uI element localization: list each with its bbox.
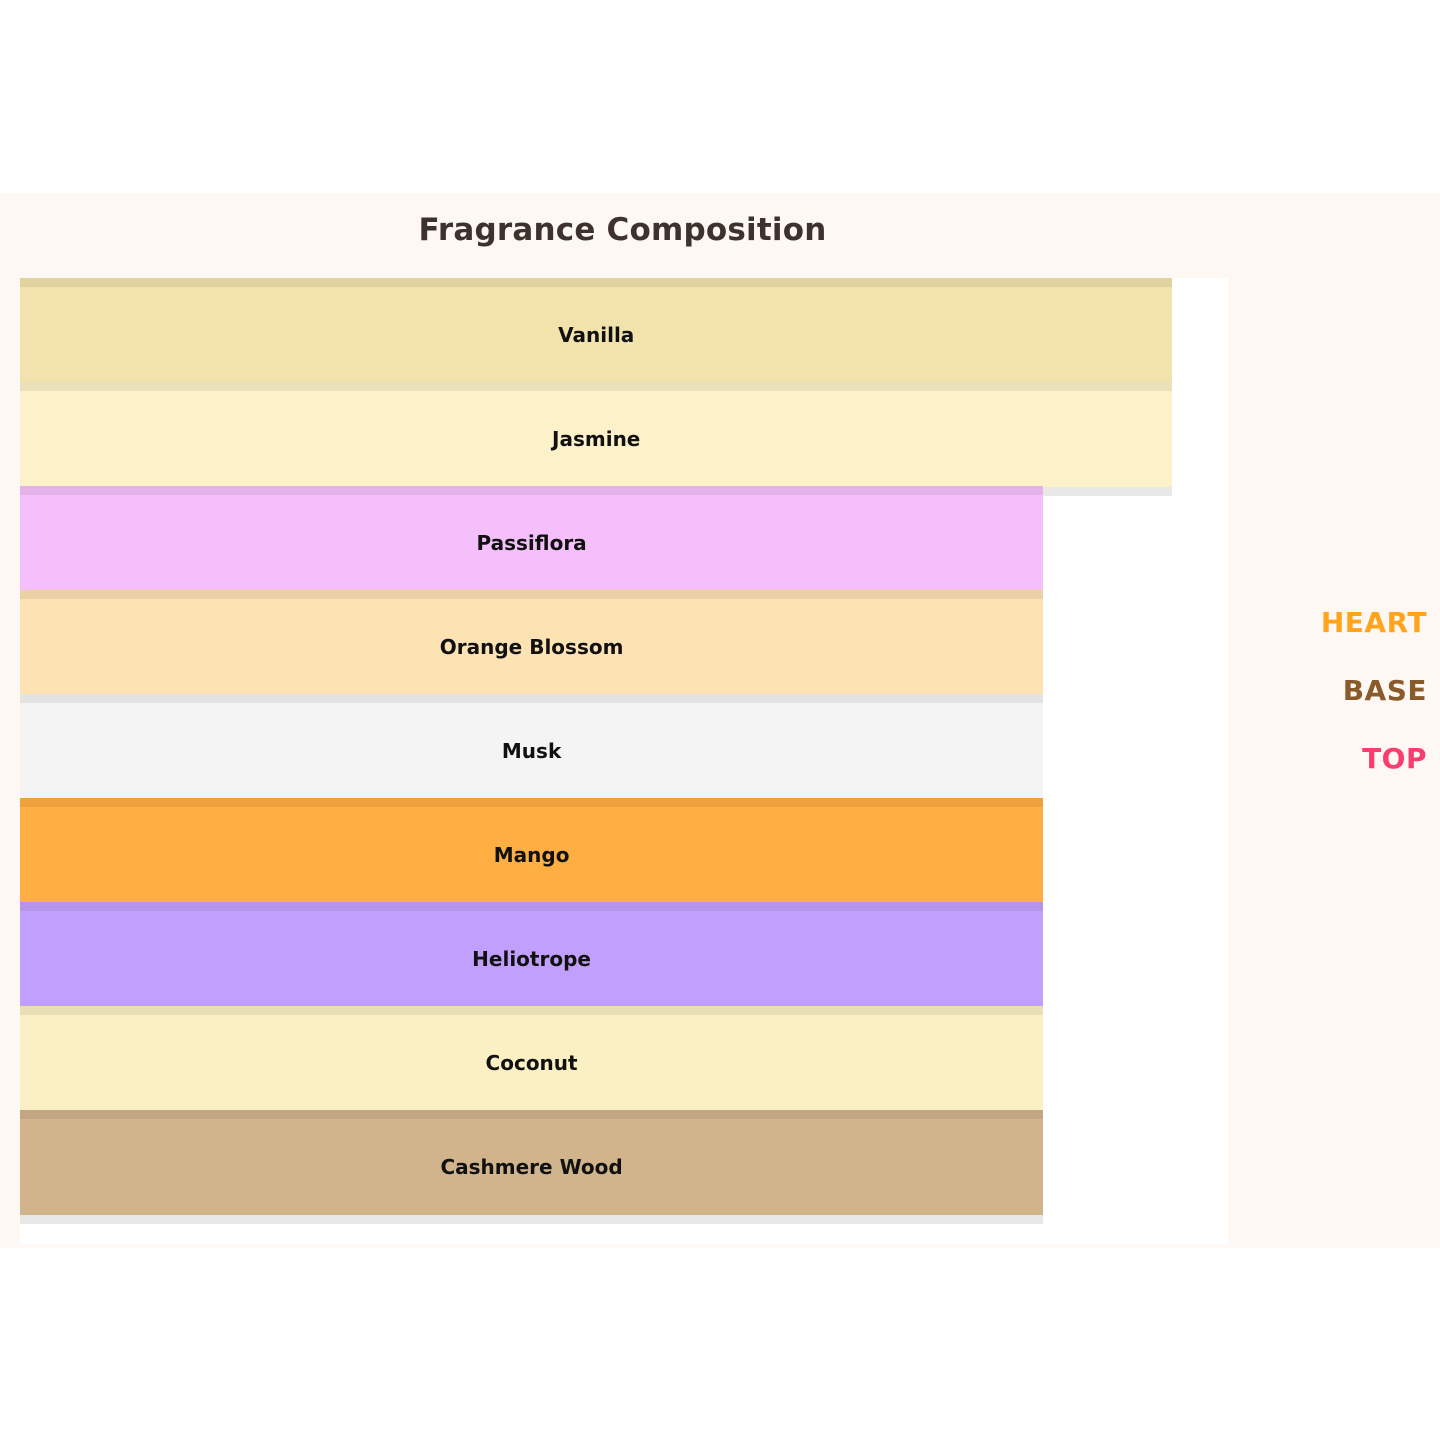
legend-item-heart[interactable]: HEART bbox=[1321, 589, 1427, 657]
bar-shadow-strip bbox=[20, 486, 1043, 495]
bar-row[interactable]: Heliotrope bbox=[20, 902, 1228, 1016]
plot-area: VanillaJasminePassifloraOrange BlossomMu… bbox=[20, 278, 1228, 1244]
bar-fill[interactable] bbox=[20, 495, 1043, 591]
bar-fill[interactable] bbox=[20, 807, 1043, 903]
bar-shadow-strip bbox=[20, 694, 1043, 703]
bar-shadow-strip bbox=[20, 278, 1172, 287]
legend-item-top[interactable]: TOP bbox=[1321, 725, 1427, 793]
bar-row[interactable]: Orange Blossom bbox=[20, 590, 1228, 704]
bar-fill[interactable] bbox=[20, 391, 1172, 487]
bar-shadow-strip bbox=[20, 902, 1043, 911]
bar-row[interactable]: Cashmere Wood bbox=[20, 1110, 1228, 1224]
bar-fill[interactable] bbox=[20, 1119, 1043, 1215]
bar-fill[interactable] bbox=[20, 287, 1172, 383]
bar-row[interactable]: Coconut bbox=[20, 1006, 1228, 1120]
bar-fill[interactable] bbox=[20, 1015, 1043, 1111]
bar-fill[interactable] bbox=[20, 599, 1043, 695]
bar-row[interactable]: Musk bbox=[20, 694, 1228, 808]
bar-row[interactable]: Passiflora bbox=[20, 486, 1228, 600]
bar-shadow-strip bbox=[20, 382, 1172, 391]
bar-fill[interactable] bbox=[20, 703, 1043, 799]
bar-row[interactable]: Jasmine bbox=[20, 382, 1228, 496]
bar-fill[interactable] bbox=[20, 911, 1043, 1007]
bar-row[interactable]: Mango bbox=[20, 798, 1228, 912]
bar-shadow-strip bbox=[20, 590, 1043, 599]
figure-canvas: Fragrance Composition VanillaJasminePass… bbox=[0, 193, 1440, 1248]
legend-item-base[interactable]: BASE bbox=[1321, 657, 1427, 725]
page-title: Fragrance Composition bbox=[0, 212, 1245, 248]
legend: HEARTBASETOP bbox=[1321, 589, 1427, 793]
bar-row[interactable]: Vanilla bbox=[20, 278, 1228, 392]
bar-shadow-strip bbox=[20, 798, 1043, 807]
bar-shadow-strip bbox=[20, 1006, 1043, 1015]
bar-shadow-strip bbox=[20, 1110, 1043, 1119]
